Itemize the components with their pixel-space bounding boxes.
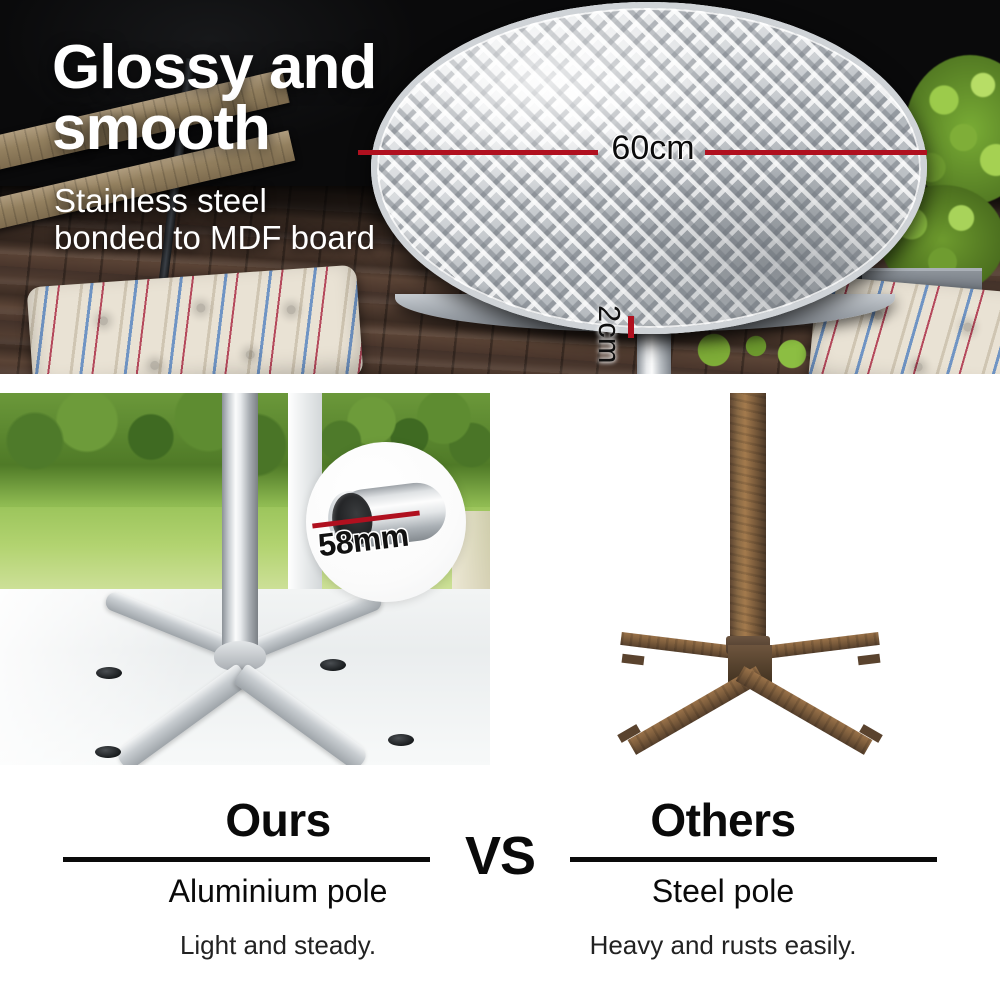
thickness-label: 2cm xyxy=(594,305,625,364)
alu-foot-front-left xyxy=(95,746,121,758)
comparison-desc-others: Heavy and rusts easily. xyxy=(508,930,938,961)
hero-subtitle: Stainless steel bonded to MDF board xyxy=(54,182,384,257)
diameter-label: 60cm xyxy=(600,131,706,165)
alu-foot-front-right xyxy=(388,734,414,746)
comparison-table: Ours Aluminium pole Light and steady. Ot… xyxy=(0,765,1000,1000)
alu-foot-back-left xyxy=(96,667,122,679)
ground-foliage xyxy=(690,330,810,370)
thickness-tick xyxy=(628,316,634,338)
alu-foot-back-right xyxy=(320,659,346,671)
diameter-rule-right xyxy=(705,150,927,155)
product-infographic: 60cm 2cm Glossy and smooth Stainless ste… xyxy=(0,0,1000,1000)
hero-photo: 60cm 2cm Glossy and smooth Stainless ste… xyxy=(0,0,1000,374)
steel-foot-back-left xyxy=(622,654,645,666)
hero-title: Glossy and smooth xyxy=(52,38,472,160)
comparison-photos-row xyxy=(0,393,1000,765)
aluminium-pole xyxy=(222,393,258,655)
comparison-desc-ours: Light and steady. xyxy=(63,930,493,961)
steel-leg-front-right xyxy=(736,666,873,755)
photo-steel-base xyxy=(500,393,1000,765)
steel-pole xyxy=(730,393,766,645)
vs-label: VS xyxy=(0,825,1000,887)
steel-foot-back-right xyxy=(858,654,881,666)
pole-diameter-callout: 58mm xyxy=(306,442,466,602)
